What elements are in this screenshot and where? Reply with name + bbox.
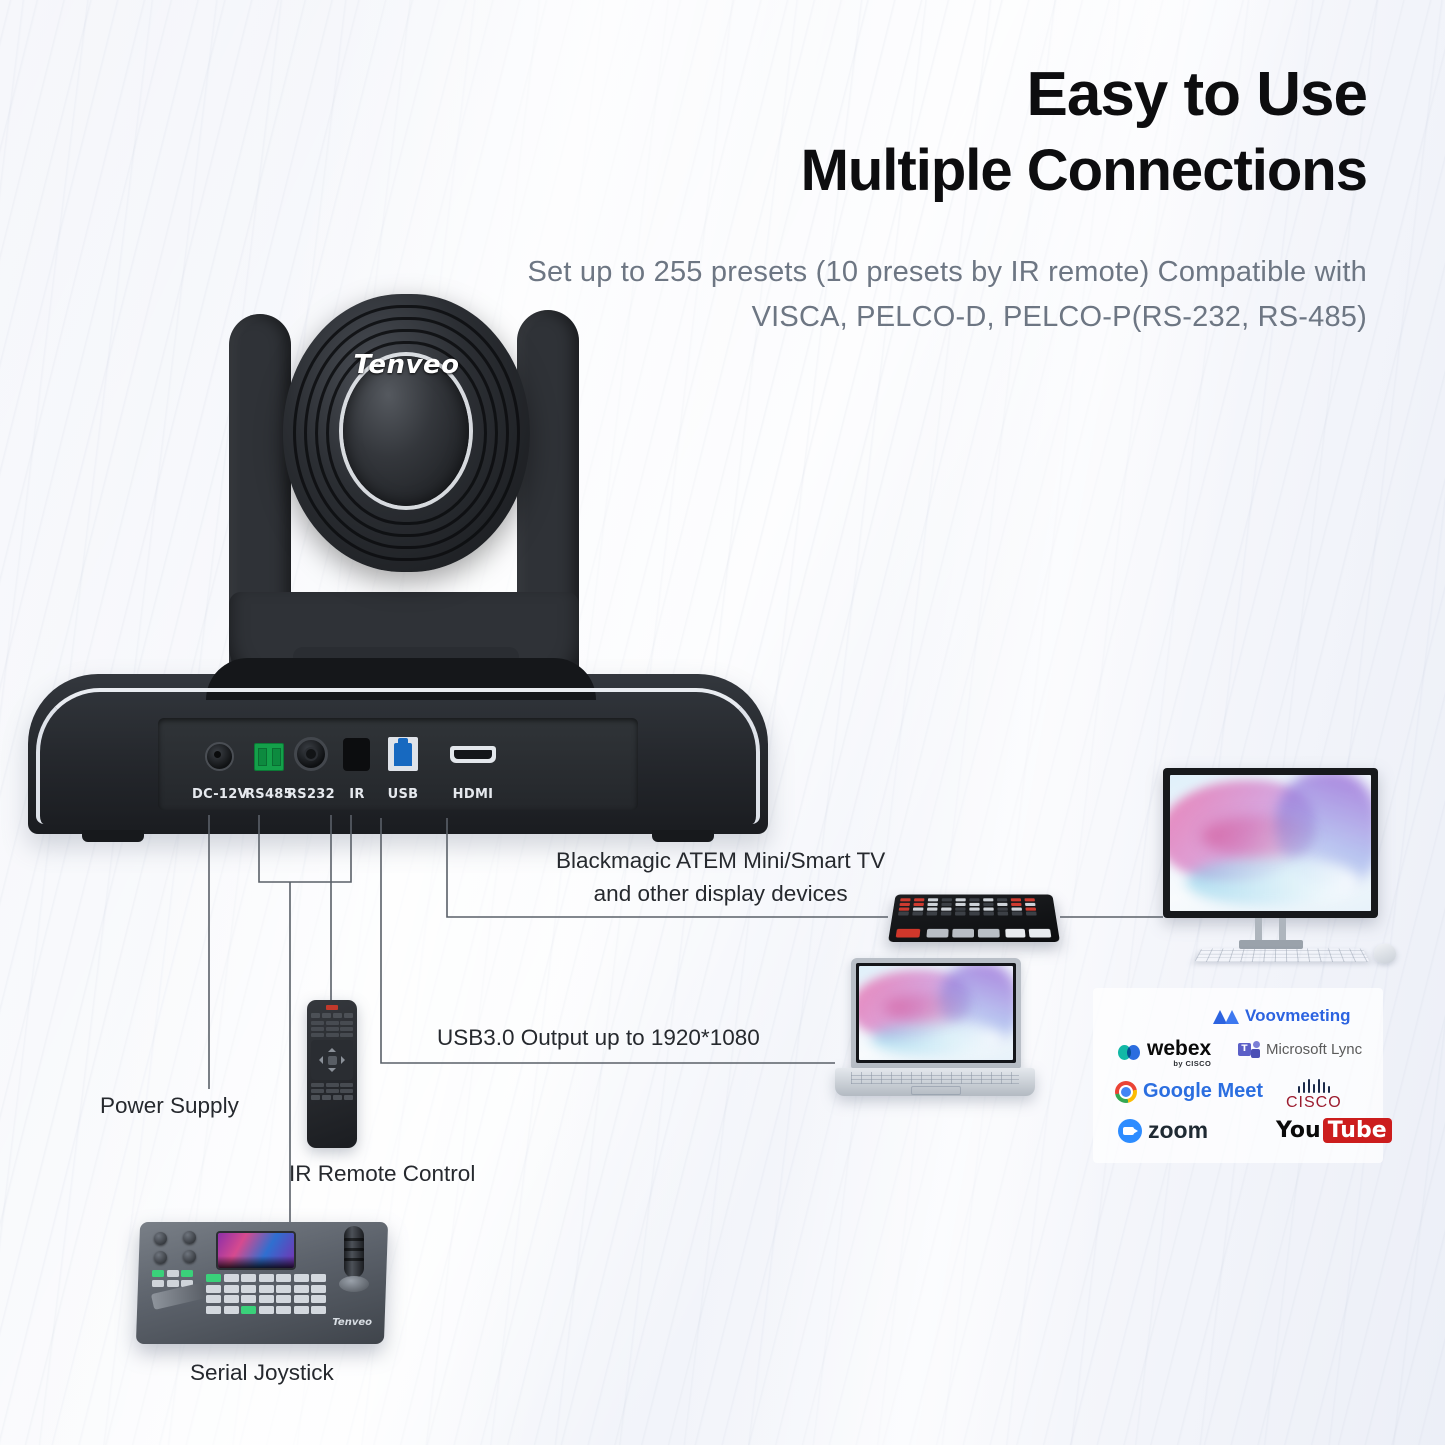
cisco-bars-icon bbox=[1298, 1078, 1331, 1093]
chrome-icon bbox=[1115, 1081, 1137, 1103]
hdmi-icon bbox=[450, 746, 496, 763]
subtitle-line-1: Set up to 255 presets (10 presets by IR … bbox=[528, 250, 1368, 295]
remote-dpad-ok-icon bbox=[328, 1056, 337, 1065]
logo-label-microsoft-lync: Microsoft Lync bbox=[1266, 1041, 1362, 1058]
laptop-keyboard bbox=[851, 1072, 1019, 1084]
atem-button-b bbox=[952, 929, 974, 938]
atem-button-c bbox=[978, 929, 1000, 938]
logo-webex: webex by CISCO bbox=[1118, 1038, 1211, 1068]
ptz-camera-product: Tenveo DC-12V RS485 RS232 IR USB bbox=[28, 292, 768, 837]
port-label-rs485: RS485 bbox=[245, 787, 293, 802]
callout-serial-joystick: Serial Joystick bbox=[190, 1357, 334, 1390]
camera-foot-left bbox=[82, 830, 144, 842]
logo-sublabel-webex: by CISCO bbox=[1173, 1060, 1211, 1068]
background-gloss-band-2 bbox=[706, 0, 1344, 1445]
desktop-keyboard bbox=[1194, 949, 1370, 963]
callout-power-supply: Power Supply bbox=[100, 1090, 239, 1123]
remote-num-row-5 bbox=[311, 1089, 353, 1093]
remote-num-row-1 bbox=[311, 1021, 353, 1025]
blackmagic-atem-mini-device bbox=[888, 884, 1060, 942]
laptop-base bbox=[835, 1068, 1035, 1096]
port-usb[interactable] bbox=[388, 737, 418, 771]
joystick-knob-4 bbox=[183, 1250, 196, 1263]
desktop-mouse bbox=[1373, 943, 1396, 963]
port-label-hdmi: HDMI bbox=[453, 787, 494, 802]
camera-brand-logo: Tenveo bbox=[283, 350, 530, 380]
joystick-stick bbox=[339, 1226, 369, 1292]
joystick-knob-2 bbox=[183, 1231, 196, 1244]
logo-youtube: You Tube bbox=[1276, 1118, 1392, 1143]
callout-usb-output: USB3.0 Output up to 1920*1080 bbox=[437, 1022, 760, 1055]
infographic-canvas: Easy to Use Multiple Connections Set up … bbox=[0, 0, 1445, 1445]
joystick-knob-1 bbox=[154, 1232, 167, 1245]
logo-label-cisco: CISCO bbox=[1286, 1094, 1342, 1112]
port-rs485[interactable] bbox=[254, 743, 284, 771]
port-label-ir: IR bbox=[349, 787, 364, 802]
display-monitor-device bbox=[1163, 768, 1378, 918]
remote-num-row-4 bbox=[311, 1083, 353, 1087]
joystick-brand-logo: Tenveo bbox=[332, 1317, 372, 1328]
voovmeeting-icon bbox=[1213, 1009, 1239, 1024]
serial-joystick-controller: Tenveo bbox=[138, 1222, 386, 1344]
usb-type-b-icon bbox=[388, 737, 418, 771]
webex-icon bbox=[1118, 1045, 1141, 1061]
atem-button-e bbox=[1029, 929, 1052, 938]
remote-top-row bbox=[311, 1013, 353, 1018]
joystick-button-row-1 bbox=[152, 1270, 193, 1277]
port-dc-12v[interactable] bbox=[205, 742, 234, 771]
laptop-lid bbox=[851, 958, 1021, 1068]
callout-display-devices: Blackmagic ATEM Mini/Smart TV and other … bbox=[556, 845, 885, 910]
remote-dpad bbox=[311, 1040, 353, 1080]
port-hdmi[interactable] bbox=[450, 746, 496, 763]
logo-voovmeeting: Voovmeeting bbox=[1213, 1006, 1350, 1026]
logo-cisco: CISCO bbox=[1286, 1078, 1342, 1112]
monitor-stand-right bbox=[1279, 918, 1286, 940]
monitor-wallpaper bbox=[1170, 775, 1371, 911]
joystick-knob-3 bbox=[154, 1251, 167, 1264]
rs232-mini-din-icon bbox=[294, 737, 328, 771]
dc-power-jack-icon bbox=[205, 742, 234, 771]
headline-primary: Easy to Use bbox=[801, 62, 1367, 127]
laptop-trackpad bbox=[911, 1086, 961, 1095]
logo-google-meet: Google Meet bbox=[1115, 1080, 1263, 1103]
compatible-platforms-panel: Voovmeeting webex by CISCO T Microsoft L… bbox=[1093, 988, 1383, 1163]
logo-label-webex: webex bbox=[1147, 1038, 1211, 1059]
atem-program-button bbox=[896, 929, 921, 938]
headline-secondary: Multiple Connections bbox=[801, 137, 1367, 205]
remote-power-button bbox=[326, 1005, 338, 1010]
joystick-keypad bbox=[206, 1274, 326, 1314]
zoom-icon bbox=[1118, 1119, 1142, 1143]
ir-remote-control-device bbox=[307, 1000, 357, 1148]
remote-bottom-row bbox=[311, 1095, 353, 1100]
logo-label-voovmeeting: Voovmeeting bbox=[1245, 1006, 1350, 1026]
port-rs232[interactable] bbox=[294, 737, 328, 771]
laptop-device bbox=[835, 958, 1035, 1108]
logo-microsoft-lync: T Microsoft Lync bbox=[1238, 1041, 1362, 1058]
remote-num-row-2 bbox=[311, 1027, 353, 1031]
ir-receiver-icon bbox=[343, 738, 370, 771]
port-ir[interactable] bbox=[343, 738, 370, 771]
callout-ir-remote: IR Remote Control bbox=[289, 1158, 475, 1191]
joystick-stick-base bbox=[339, 1276, 369, 1292]
atem-button-grid bbox=[898, 898, 1050, 915]
camera-foot-right bbox=[652, 830, 714, 842]
callout-display-line-2: and other display devices bbox=[556, 878, 885, 911]
monitor-bezel bbox=[1163, 768, 1378, 918]
monitor-stand-left bbox=[1255, 918, 1262, 940]
laptop-wallpaper bbox=[859, 966, 1013, 1060]
remote-num-row-3 bbox=[311, 1033, 353, 1037]
laptop-screen-bezel bbox=[856, 963, 1016, 1063]
camera-lens-housing: Tenveo bbox=[283, 294, 530, 572]
rs485-terminal-icon bbox=[254, 743, 284, 771]
port-label-dc-12v: DC-12V bbox=[192, 787, 248, 802]
logo-label-zoom: zoom bbox=[1148, 1117, 1208, 1144]
remote-dpad-up-icon bbox=[328, 1044, 336, 1052]
atem-top-surface bbox=[888, 895, 1060, 942]
remote-dpad-left-icon bbox=[315, 1056, 323, 1064]
atem-button-a bbox=[926, 929, 948, 938]
port-label-usb: USB bbox=[388, 787, 419, 802]
logo-zoom: zoom bbox=[1118, 1117, 1208, 1144]
youtube-icon: You Tube bbox=[1276, 1118, 1392, 1143]
remote-dpad-down-icon bbox=[328, 1068, 336, 1076]
joystick-lcd-screen bbox=[218, 1233, 294, 1268]
atem-button-d bbox=[1005, 929, 1025, 938]
headline-block: Easy to Use Multiple Connections bbox=[801, 62, 1367, 206]
logo-label-youtube-tube: Tube bbox=[1323, 1118, 1392, 1143]
port-label-rs232: RS232 bbox=[287, 787, 335, 802]
microsoft-teams-icon: T bbox=[1238, 1041, 1260, 1058]
remote-dpad-right-icon bbox=[341, 1056, 349, 1064]
logo-label-youtube-you: You bbox=[1276, 1118, 1321, 1143]
callout-display-line-1: Blackmagic ATEM Mini/Smart TV bbox=[556, 845, 885, 878]
joystick-stick-shaft bbox=[344, 1226, 364, 1278]
logo-label-google-meet: Google Meet bbox=[1143, 1080, 1263, 1103]
